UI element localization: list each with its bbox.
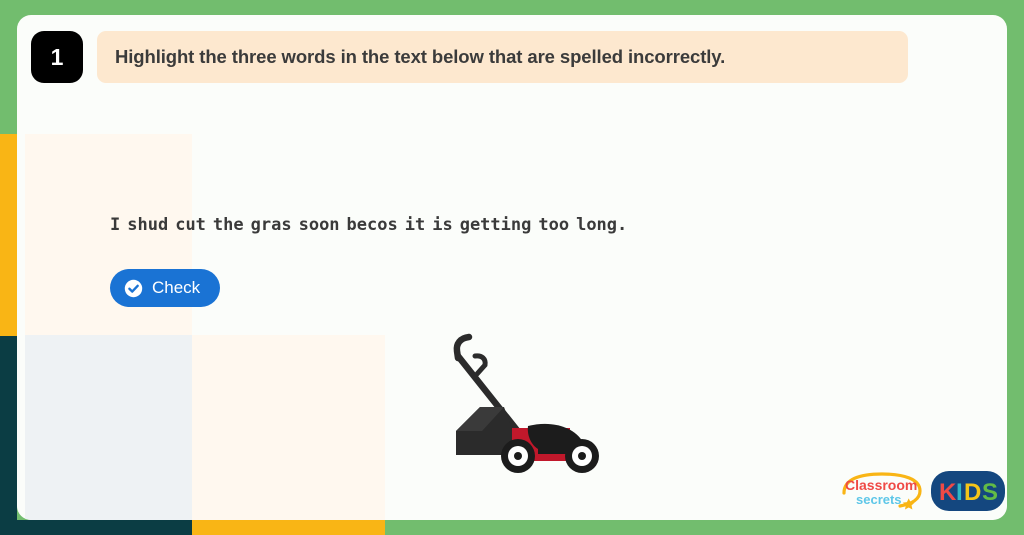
sentence-word[interactable]: I [110,215,120,235]
kids-letter-i: I [956,479,963,506]
sentence-word[interactable]: cut [175,215,206,235]
check-button[interactable]: Check [110,269,220,307]
check-circle-icon [124,279,143,298]
question-header: 1 Highlight the three words in the text … [31,31,908,83]
sentence-word[interactable]: shud [127,215,168,235]
classroom-secrets-line2: secrets [856,492,902,507]
decor-bar-bottom-yellow [192,520,385,535]
classroom-secrets-line1: Classroom [845,477,917,493]
instruction-text: Highlight the three words in the text be… [115,46,725,68]
kids-letter-d: D [964,479,981,506]
branding-logos: Classroom secrets K I D S [840,470,1006,512]
kids-logo: K I D S [930,470,1006,512]
sentence-word[interactable]: too [538,215,569,235]
sentence-word[interactable]: long [576,215,617,235]
activity-card: 1 Highlight the three words in the text … [17,15,1007,520]
sentence-word[interactable]: it [405,215,425,235]
sentence-word[interactable]: getting [460,215,532,235]
question-number-badge: 1 [31,31,83,83]
classroom-secrets-logo: Classroom secrets [840,471,924,511]
sentence-word[interactable]: becos [347,215,398,235]
decor-bar-bottom-teal [0,520,192,535]
sentence-word[interactable]: the [213,215,244,235]
decor-panel-blue-bottom [25,335,192,520]
star-icon [903,498,915,509]
decor-bar-left-yellow [0,134,17,336]
sentence-text: Ishudcutthegrassoonbecositisgettingtoolo… [110,215,627,235]
check-button-label: Check [152,278,200,298]
sentence-word[interactable]: gras [251,215,292,235]
sentence-word[interactable]: soon [299,215,340,235]
sentence-punctuation: . [617,215,627,235]
lawnmower-illustration [442,328,617,486]
decor-bar-left-teal [0,336,17,535]
instruction-bar: Highlight the three words in the text be… [97,31,908,83]
kids-letter-s: S [982,479,998,506]
kids-letter-k: K [939,479,957,506]
activity-frame: 1 Highlight the three words in the text … [0,0,1024,535]
decor-panel-cream-bottom [192,335,385,520]
sentence-word[interactable]: is [432,215,452,235]
